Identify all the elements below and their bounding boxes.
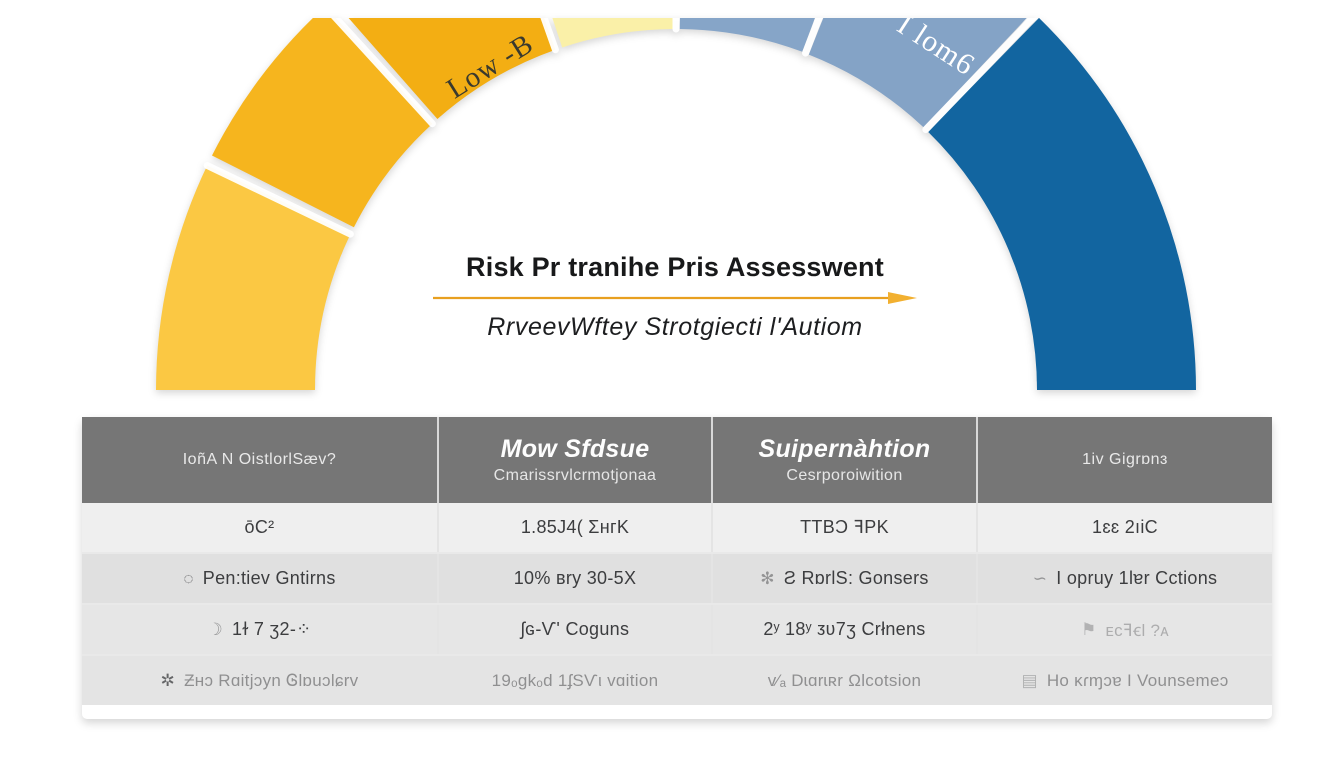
flag-icon: ⚑ bbox=[1081, 621, 1097, 638]
cell-text: ʃɢ-Ѵ' Coguns bbox=[521, 619, 630, 640]
table-cell-r3c1: ☽ 1ɫ 7 ʒ2-⁘ bbox=[82, 604, 438, 655]
cell-text: Hᴏ ᴋɾɱɔɐ I Vounsemeɔ bbox=[1047, 671, 1229, 691]
table-cell-r4c3: ᴠ⁄ₐ Dɩɑrɩʀr Ωlcotsion bbox=[712, 655, 977, 705]
table-cell-r2c4: ∽ I opruy 1lɐr Cctions bbox=[977, 553, 1272, 604]
table-header-4-sub: 1iv Gigrɒnɜ bbox=[988, 451, 1262, 469]
cell-text: ᴇᴄꟻꞓl ?ᴀ bbox=[1105, 618, 1169, 641]
cell-text: 1ɛɛ 2ıiC bbox=[1092, 517, 1158, 538]
table-cell-r4c4: ▤ Hᴏ ᴋɾɱɔɐ I Vounsemeɔ bbox=[977, 655, 1272, 705]
cell-text: I opruy 1lɐr Cctions bbox=[1056, 568, 1217, 589]
cell-text: 2ʸ 18ʸ ᴣʋ7ʒ Crłnens bbox=[763, 619, 925, 640]
cell-text: 10% ʙrу 30-5X bbox=[514, 568, 637, 589]
table-header-row: IoñA N OistlorlSæv? Mow Sfdsue Cmarissrv… bbox=[82, 417, 1272, 503]
table-header-cell-3[interactable]: Suipernàhtion Cesrporoiwition bbox=[712, 417, 977, 503]
ribbon-icon: ∽ bbox=[1033, 570, 1048, 587]
table-row[interactable]: ☽ 1ɫ 7 ʒ2-⁘ ʃɢ-Ѵ' Coguns 2ʸ 18ʸ ᴣʋ7ʒ Crł… bbox=[82, 604, 1272, 655]
cell-text: ōC² bbox=[245, 517, 275, 538]
table-header-cell-2[interactable]: Mow Sfdsue Cmarissrvlcrmotjonaa bbox=[438, 417, 712, 503]
table-cell-r3c3: 2ʸ 18ʸ ᴣʋ7ʒ Crłnens bbox=[712, 604, 977, 655]
table-cell-r2c2: 10% ʙrу 30-5X bbox=[438, 553, 712, 604]
cell-text: 1.85J4( ƩнгK bbox=[521, 517, 629, 538]
table-cell-r1c4: 1ɛɛ 2ıiC bbox=[977, 503, 1272, 553]
ruler-icon: ▤ bbox=[1021, 672, 1037, 689]
cell-text: Pen:tiev Gntirns bbox=[203, 568, 336, 589]
table-cell-r2c3: ✻ Ƨ RɒrlS: Gonsers bbox=[712, 553, 977, 604]
circle-slash-icon: ◌ bbox=[183, 570, 193, 587]
risk-table: IoñA N OistlorlSæv? Mow Sfdsue Cmarissrv… bbox=[82, 417, 1272, 705]
right-arrow-icon bbox=[433, 292, 917, 304]
table-cell-r1c3: TTBƆ ꟻPK bbox=[712, 503, 977, 553]
table-header-cell-1[interactable]: IoñA N OistlorlSæv? bbox=[82, 417, 438, 503]
table-cell-r1c2: 1.85J4( ƩнгK bbox=[438, 503, 712, 553]
cell-text: Ƨ RɒrlS: Gonsers bbox=[784, 568, 929, 589]
cell-text: TTBƆ ꟻPK bbox=[800, 517, 889, 538]
gauge-center-block: Risk Pr tranihe Pris Assesswent RrveevWf… bbox=[400, 252, 950, 342]
crescent-icon: ☽ bbox=[207, 621, 223, 638]
table-cell-r4c2: 19ₒgkₒd 1ʄSѴι vɑitiоn bbox=[438, 655, 712, 705]
table-cell-r3c2: ʃɢ-Ѵ' Coguns bbox=[438, 604, 712, 655]
table-cell-r2c1: ◌ Pen:tiev Gntirns bbox=[82, 553, 438, 604]
cell-text: 19ₒgkₒd 1ʄSѴι vɑitiоn bbox=[492, 671, 659, 691]
table-row[interactable]: ✲ Ƶʜɔ Rɑitjɔyn Ꮆlɒuɔlɕrv 19ₒgkₒd 1ʄSѴι v… bbox=[82, 655, 1272, 705]
cell-text: Ƶʜɔ Rɑitjɔyn Ꮆlɒuɔlɕrv bbox=[184, 671, 358, 691]
table-row[interactable]: ōC² 1.85J4( ƩнгK TTBƆ ꟻPK 1ɛɛ 2ıiC bbox=[82, 503, 1272, 553]
star-circle-icon: ✲ bbox=[161, 672, 176, 689]
gauge-chart: Low -B Lov Ardh I lom6 Risk Pr tranihe P… bbox=[0, 0, 1344, 400]
table-header-3-sub: Cesrporoiwition bbox=[723, 467, 966, 485]
risk-table-card: IoñA N OistlorlSæv? Mow Sfdsue Cmarissrv… bbox=[82, 417, 1272, 719]
table-header-3-main: Suipernàhtion bbox=[723, 435, 966, 463]
table-row[interactable]: ◌ Pen:tiev Gntirns 10% ʙrу 30-5X ✻ Ƨ Rɒr… bbox=[82, 553, 1272, 604]
sparkle-icon: ✻ bbox=[760, 570, 775, 587]
table-header-2-sub: Cmarissrvlcrmotjonaa bbox=[449, 467, 701, 485]
gauge-title: Risk Pr tranihe Pris Assesswent bbox=[400, 252, 950, 283]
gauge-subtitle: RrveevWftey Strotgiecti l'Autiom bbox=[400, 313, 950, 342]
cell-text: 1ɫ 7 ʒ2-⁘ bbox=[232, 619, 312, 640]
table-header-cell-4[interactable]: 1iv Gigrɒnɜ bbox=[977, 417, 1272, 503]
table-header-1-sub: IoñA N OistlorlSæv? bbox=[92, 451, 427, 469]
gauge-arrow bbox=[400, 292, 950, 304]
table-cell-r1c1: ōC² bbox=[82, 503, 438, 553]
cell-text: ᴠ⁄ₐ Dɩɑrɩʀr Ωlcotsion bbox=[768, 671, 922, 691]
table-header-2-main: Mow Sfdsue bbox=[449, 435, 701, 463]
table-cell-r3c4: ⚑ ᴇᴄꟻꞓl ?ᴀ bbox=[977, 604, 1272, 655]
table-cell-r4c1: ✲ Ƶʜɔ Rɑitjɔyn Ꮆlɒuɔlɕrv bbox=[82, 655, 438, 705]
